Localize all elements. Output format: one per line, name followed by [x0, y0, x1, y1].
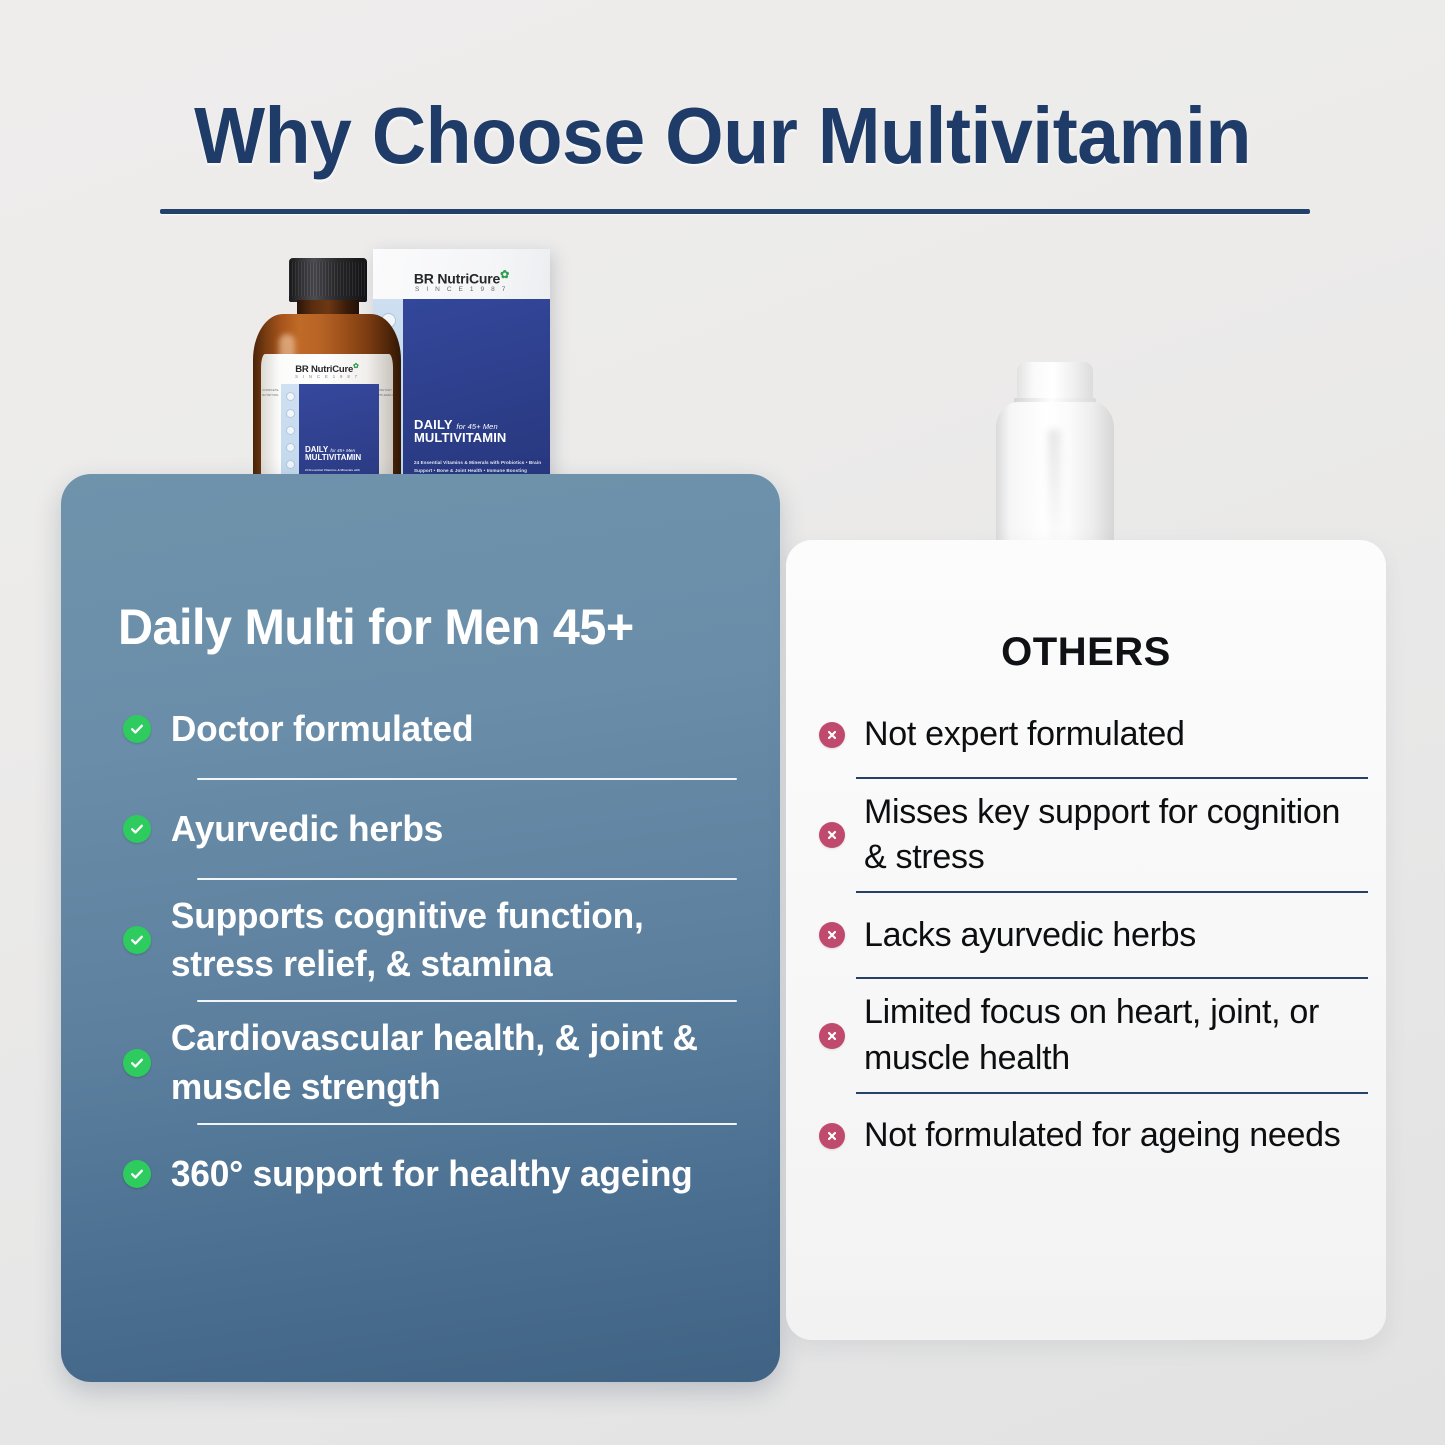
label-benefit-icon-heart: [286, 409, 295, 418]
bottle-cap: [289, 258, 367, 302]
carton-brand-text: BR NutriCure: [414, 271, 500, 287]
others-comparison-card: OTHERS Not expert formulated Misses key …: [786, 540, 1386, 1340]
list-divider: [197, 878, 737, 880]
carton-multivitamin-text: MULTIVITAMIN: [414, 431, 506, 445]
others-heading: OTHERS: [786, 630, 1386, 675]
label-product-name: DAILY for 45+ Men MULTIVITAMIN: [305, 446, 361, 463]
list-item-label: 360° support for healthy ageing: [165, 1150, 693, 1198]
leaf-icon: ✿: [500, 269, 509, 281]
x-circle-icon: [819, 922, 845, 948]
list-item: Supports cognitive function, stress reli…: [109, 892, 739, 988]
others-drawback-list: Not expert formulated Misses key support…: [808, 704, 1368, 1167]
label-multivitamin-text: MULTIVITAMIN: [305, 454, 361, 462]
check-circle-icon: [123, 926, 151, 954]
list-divider: [856, 891, 1368, 893]
list-item-label: Limited focus on heart, joint, or muscle…: [856, 990, 1368, 1080]
x-circle-icon: [819, 1023, 845, 1049]
x-circle-icon: [819, 722, 845, 748]
carton-audience-text: for 45+ Men: [456, 422, 497, 431]
list-divider: [856, 1092, 1368, 1094]
list-divider: [197, 778, 737, 780]
list-divider: [856, 777, 1368, 779]
page-title-block: Why Choose Our Multivitamin: [0, 96, 1445, 176]
list-item-label: Doctor formulated: [165, 705, 473, 753]
list-item: Doctor formulated: [109, 692, 739, 766]
list-item-label: Lacks ayurvedic herbs: [856, 913, 1196, 958]
competitor-bottle-highlight: [1048, 430, 1060, 550]
list-item: Cardiovascular health, & joint & muscle …: [109, 1014, 739, 1110]
label-benefit-icon-brain: [286, 392, 295, 401]
list-item: 360° support for healthy ageing: [109, 1137, 739, 1211]
list-item: Ayurvedic herbs: [109, 792, 739, 866]
ours-heading: Daily Multi for Men 45+: [118, 598, 634, 656]
competitor-bottle-cap: [1017, 362, 1093, 400]
check-circle-icon: [123, 1049, 151, 1077]
list-divider: [197, 1000, 737, 1002]
ours-comparison-card: Daily Multi for Men 45+ Doctor formulate…: [61, 474, 780, 1382]
carton-product-name: DAILY for 45+ Men MULTIVITAMIN: [414, 418, 506, 445]
title-underline: [160, 209, 1310, 214]
check-circle-icon: [123, 1160, 151, 1188]
list-item-label: Cardiovascular health, & joint & muscle …: [165, 1014, 728, 1110]
list-item-label: Ayurvedic herbs: [165, 805, 443, 853]
list-divider: [856, 977, 1368, 979]
label-side-left-text: COMPLETE NUTRITION: [262, 388, 280, 398]
leaf-icon-small: ✿: [353, 363, 359, 370]
list-item-label: Not formulated for ageing needs: [856, 1113, 1340, 1158]
check-circle-icon: [123, 815, 151, 843]
list-item: Not formulated for ageing needs: [808, 1105, 1368, 1167]
x-circle-icon: [819, 822, 845, 848]
list-item: Lacks ayurvedic herbs: [808, 904, 1368, 966]
list-item-label: Supports cognitive function, stress reli…: [165, 892, 728, 988]
list-item: Limited focus on heart, joint, or muscle…: [808, 990, 1368, 1080]
label-benefit-icon-bone: [286, 443, 295, 452]
label-since-text: S I N C E 1 9 8 7: [261, 374, 393, 379]
list-item-label: Not expert formulated: [856, 712, 1185, 757]
ours-benefit-list: Doctor formulated Ayurvedic herbs: [109, 692, 739, 1211]
list-item-label: Misses key support for cognition & stres…: [856, 790, 1368, 880]
x-circle-icon: [819, 1123, 845, 1149]
list-divider: [197, 1123, 737, 1125]
check-circle-icon: [123, 715, 151, 743]
label-benefit-icon-energy: [286, 426, 295, 435]
page-title: Why Choose Our Multivitamin: [43, 96, 1401, 176]
list-item: Misses key support for cognition & stres…: [808, 790, 1368, 880]
infographic-page: Why Choose Our Multivitamin BR NutriCure…: [0, 0, 1445, 1445]
label-audience-text: for 45+ Men: [330, 448, 355, 453]
list-item: Not expert formulated: [808, 704, 1368, 766]
label-benefit-icon-immunity: [286, 460, 295, 469]
